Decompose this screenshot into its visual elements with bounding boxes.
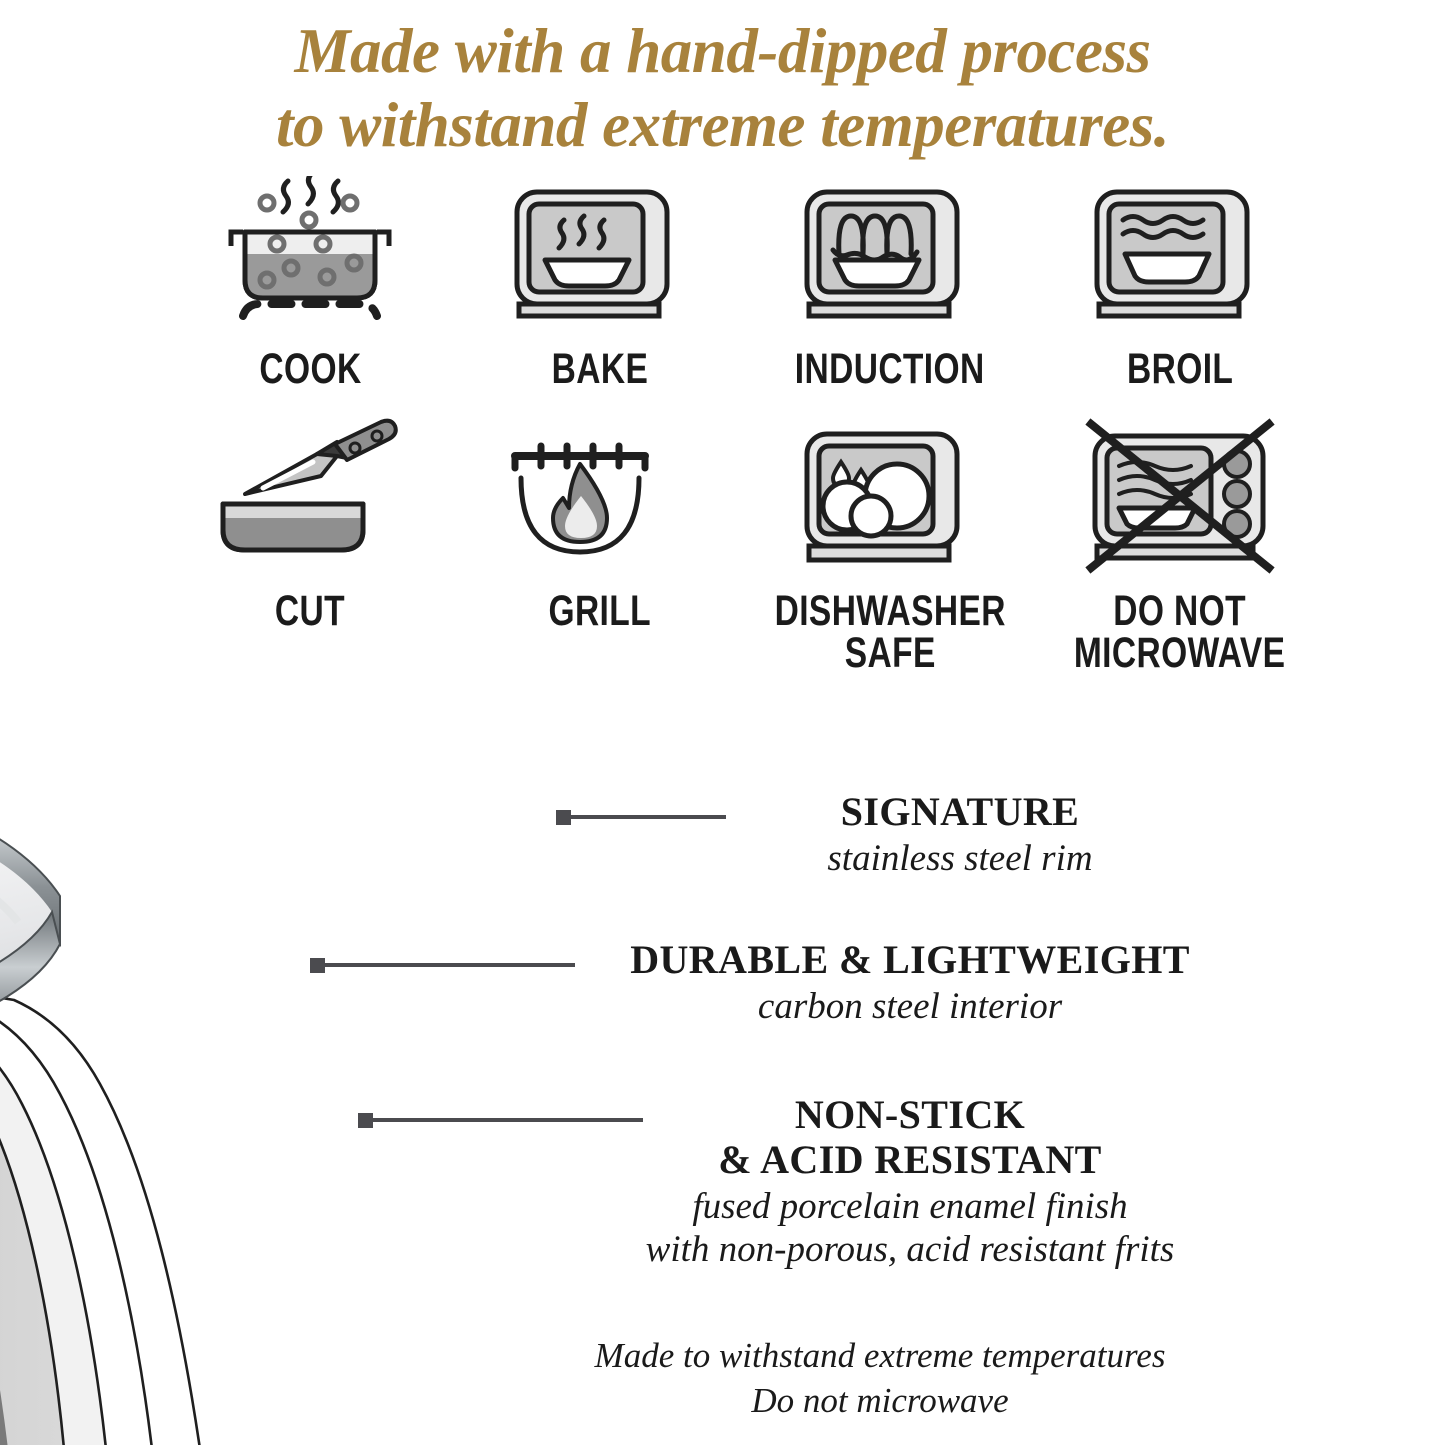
page-title: Made with a hand-dipped process to withs…: [0, 14, 1445, 163]
icon-label-broil: BROIL: [1127, 348, 1233, 390]
callout-subtitle-signature: stainless steel rim: [600, 838, 1320, 881]
callout-title-signature: SIGNATURE: [600, 790, 1320, 835]
icon-label-dishwasher-safe: DISHWASHER SAFE: [774, 590, 1005, 674]
icon-row-1: COOK BA: [165, 176, 1325, 390]
induction-icon: [785, 176, 995, 344]
icon-label-bake: BAKE: [552, 348, 649, 390]
grill-icon: [495, 418, 705, 586]
callout-title-non-stick: NON-STICK & ACID RESISTANT: [480, 1093, 1340, 1183]
icon-label-induction: INDUCTION: [795, 348, 985, 390]
dishwasher-safe-icon: [785, 418, 995, 586]
icon-cell-broil: BROIL: [1035, 176, 1325, 390]
callout-text-durable: DURABLE & LIGHTWEIGHT carbon steel inter…: [470, 938, 1350, 1029]
icon-cell-do-not-microwave: DO NOT MICROWAVE: [1035, 418, 1325, 674]
icon-label-do-not-microwave: DO NOT MICROWAVE: [1074, 590, 1286, 674]
pot-illustration: [0, 614, 660, 1445]
icon-cell-bake: BAKE: [455, 176, 745, 390]
cook-icon: [205, 176, 415, 344]
cut-icon: [205, 418, 415, 586]
footnote-text: Made to withstand extreme temperatures D…: [430, 1334, 1330, 1424]
callout-title-durable: DURABLE & LIGHTWEIGHT: [470, 938, 1350, 983]
callout-subtitle-non-stick: fused porcelain enamel finish with non-p…: [480, 1186, 1340, 1272]
headline-line-2: to withstand extreme temperatures.: [0, 88, 1445, 162]
broil-icon: [1075, 176, 1285, 344]
callout-text-non-stick: NON-STICK & ACID RESISTANT fused porcela…: [480, 1093, 1340, 1271]
headline-line-1: Made with a hand-dipped process: [0, 14, 1445, 88]
callout-text-signature: SIGNATURE stainless steel rim: [600, 790, 1320, 881]
feature-icon-grid: COOK BA: [165, 176, 1325, 674]
infographic-page: Made with a hand-dipped process to withs…: [0, 0, 1445, 1445]
icon-label-cook: COOK: [259, 348, 361, 390]
icon-cell-dishwasher-safe: DISHWASHER SAFE: [745, 418, 1035, 674]
icon-cell-induction: INDUCTION: [745, 176, 1035, 390]
icon-cell-cook: COOK: [165, 176, 455, 390]
bake-icon: [495, 176, 705, 344]
callout-subtitle-durable: carbon steel interior: [470, 986, 1350, 1029]
do-not-microwave-icon: [1075, 418, 1285, 586]
